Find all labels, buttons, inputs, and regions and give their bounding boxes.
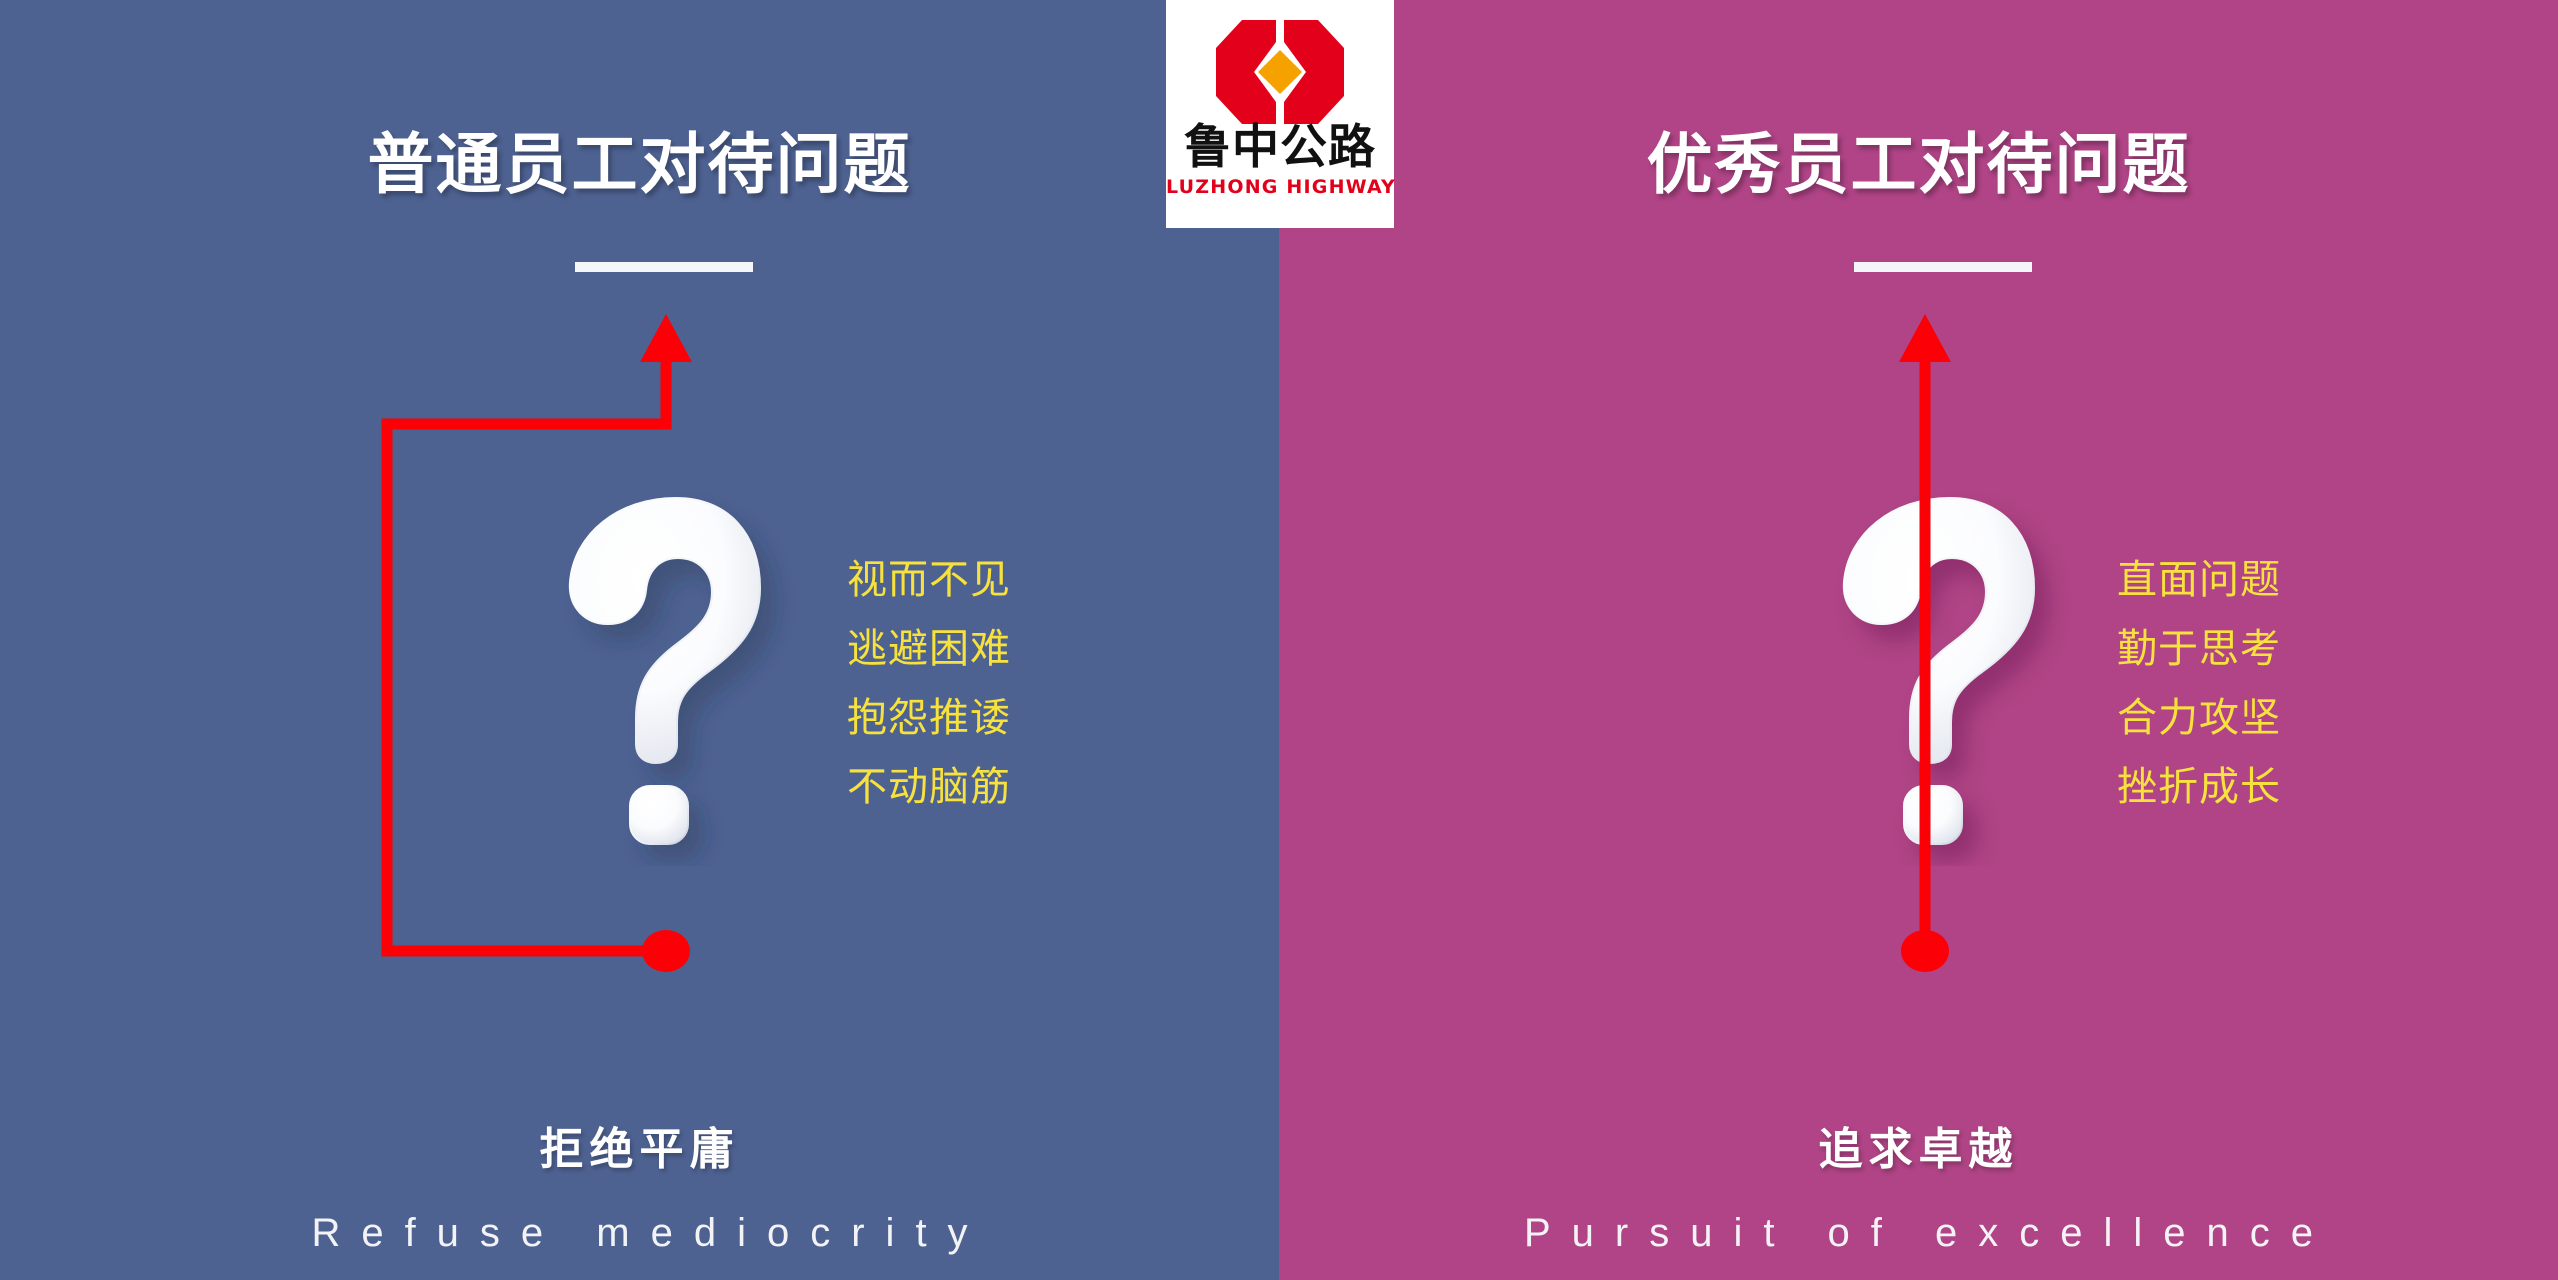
right-keyword-list: 直面问题 勤于思考 合力攻坚 挫折成长 [2117, 546, 2281, 822]
logo-chinese-name: 鲁中公路 [1166, 122, 1394, 174]
keyword-item: 逃避困难 [847, 615, 1011, 684]
right-panel-title: 优秀员工对待问题 [1279, 126, 2558, 204]
company-logo-card: 鲁中公路 LUZHONG HIGHWAY [1166, 0, 1394, 228]
keyword-item: 直面问题 [2117, 546, 2281, 615]
keyword-item: 勤于思考 [2117, 615, 2281, 684]
right-slogan-english: Pursuit of excellence [1279, 1208, 2558, 1258]
diamond-logo-icon [1202, 16, 1358, 128]
left-panel-title: 普通员工对待问题 [0, 126, 1279, 204]
right-slogan-chinese: 追求卓越 [1279, 1122, 2558, 1178]
keyword-item: 挫折成长 [2117, 753, 2281, 822]
left-slogan-english: Refuse mediocrity [0, 1208, 1279, 1258]
right-title-underline [1854, 262, 2032, 272]
keyword-item: 不动脑筋 [847, 753, 1011, 822]
logo-english-name: LUZHONG HIGHWAY [1166, 176, 1394, 198]
left-keyword-list: 视而不见 逃避困难 抱怨推诿 不动脑筋 [847, 546, 1011, 822]
keyword-item: 抱怨推诿 [847, 684, 1011, 753]
question-mark-icon-left [548, 486, 808, 866]
keyword-item: 视而不见 [847, 546, 1011, 615]
left-slogan-chinese: 拒绝平庸 [0, 1122, 1279, 1178]
question-mark-icon-right [1822, 486, 2082, 866]
keyword-item: 合力攻坚 [2117, 684, 2281, 753]
slide-canvas: 普通员工对待问题 优秀员工对待问题 视而不见 逃避困难 抱怨推诿 不动脑筋 直面… [0, 0, 2558, 1280]
left-title-underline [575, 262, 753, 272]
